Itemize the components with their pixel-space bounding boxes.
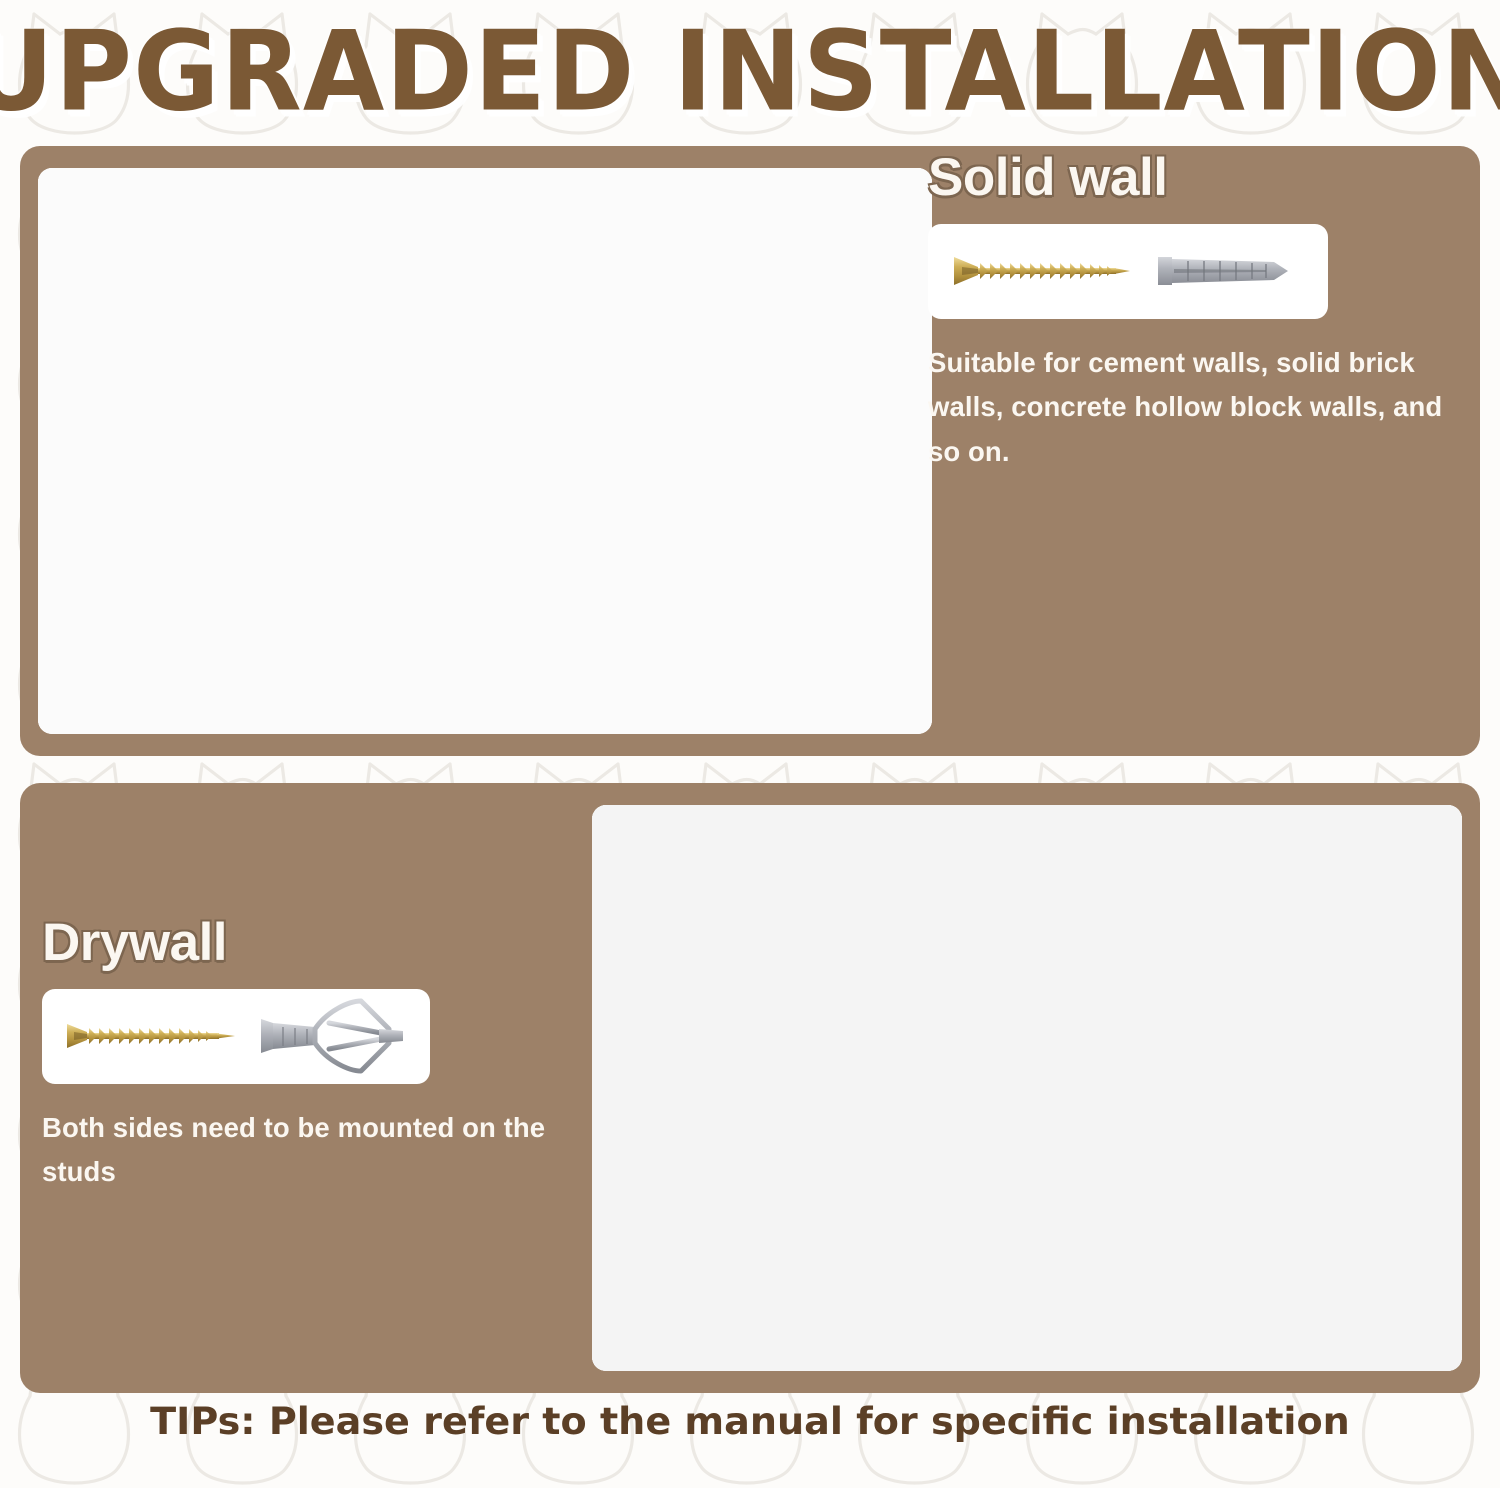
footer-tip: TIPs: Please refer to the manual for spe… (0, 1400, 1500, 1443)
page-title-container: UPGRADED INSTALLATION (0, 0, 1500, 145)
hardware-card-drywall (42, 989, 430, 1084)
wall-plug-anchor-icon (1154, 251, 1304, 291)
butterfly-toggle-anchor-icon (257, 997, 407, 1075)
heading-drywall: Drywall (42, 915, 548, 971)
stucco-wall-background (592, 805, 1462, 1371)
body-text-solid-wall: Suitable for cement walls, solid brick w… (928, 341, 1460, 475)
heading-solid-wall: Solid wall (928, 150, 1460, 206)
text-column-solid-wall: Solid wall (928, 150, 1460, 474)
hardware-card-solid-wall (928, 224, 1328, 319)
wood-screw-icon (65, 1016, 243, 1056)
infographic-page: UPGRADED INSTALLATION (0, 0, 1500, 1488)
wood-screw-icon (952, 251, 1138, 291)
text-column-drywall: Drywall (42, 915, 548, 1195)
body-text-drywall: Both sides need to be mounted on the stu… (42, 1106, 548, 1195)
page-title: UPGRADED INSTALLATION (0, 17, 1500, 128)
brick-wall-background (38, 168, 932, 734)
photo-solid-wall-install (38, 168, 932, 734)
photo-drywall-install (592, 805, 1462, 1371)
